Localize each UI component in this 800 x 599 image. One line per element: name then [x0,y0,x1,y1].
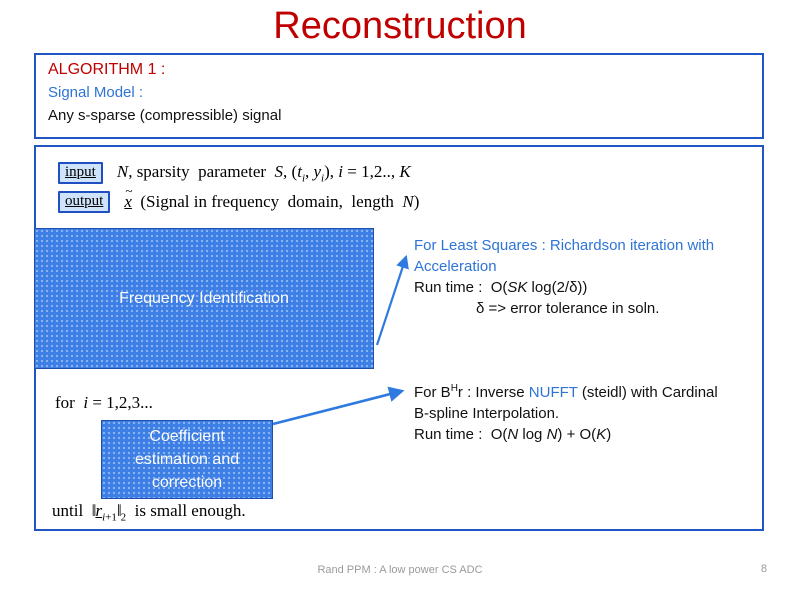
coefficient-estimation-box[interactable]: Coefficient estimation and correction [101,420,273,499]
output-parameters: x (Signal in frequency domain, length N) [124,192,419,212]
least-squares-runtime-label: Run time : [414,279,482,296]
algorithm-header-box: ALGORITHM 1 : Signal Model : Any s-spars… [34,53,764,139]
slide-canvas: Reconstruction ALGORITHM 1 : Signal Mode… [0,0,800,599]
output-row: output x (Signal in frequency domain, le… [58,191,419,213]
coefficient-line-1: Coefficient [149,428,224,445]
signal-model-label: Signal Model : [48,84,143,101]
nufft-runtime-value: O(N log N) + O(K) [491,426,612,443]
least-squares-annotation: For Least Squares : Richardson iteration… [414,235,714,319]
nufft-prefix: For B [414,384,451,401]
least-squares-title-line2: Acceleration [414,258,497,275]
nufft-after-sup: r : Inverse [458,384,529,401]
least-squares-runtime-value: O(SK log(2/δ)) [491,279,588,296]
for-loop-line: for i = 1,2,3... [55,393,153,413]
algorithm-heading: ALGORITHM 1 : [48,61,165,79]
frequency-identification-box[interactable]: Frequency Identification [34,228,374,369]
nufft-highlight: NUFFT [529,384,578,401]
output-tag: output [58,191,110,213]
input-tag: input [58,162,103,184]
least-squares-note: δ => error tolerance in soln. [476,300,659,317]
least-squares-title-line1: For Least Squares : Richardson iteration… [414,237,714,254]
frequency-identification-label: Frequency Identification [119,287,289,310]
nufft-runtime-label: Run time : [414,426,482,443]
signal-model-value: Any s-sparse (compressible) signal [48,107,281,124]
nufft-annotation: For BHr : Inverse NUFFT (steidl) with Ca… [414,378,718,445]
nufft-line2: B-spline Interpolation. [414,405,559,422]
input-row: input N, sparsity parameter S, (ti, yi),… [58,162,411,184]
input-parameters: N, sparsity parameter S, (ti, yi), i = 1… [117,162,411,184]
coefficient-line-3: correction [152,474,222,491]
nufft-superscript: H [451,383,458,394]
until-condition-line: until ‖ri+1‖2 is small enough. [52,501,246,523]
coefficient-estimation-label: Coefficient estimation and correction [135,425,239,494]
coefficient-line-2: estimation and [135,451,239,468]
nufft-suffix: (steidl) with Cardinal [578,384,718,401]
footer-text: Rand PPM : A low power CS ADC [0,564,800,576]
page-number: 8 [761,563,767,575]
page-title: Reconstruction [0,4,800,48]
